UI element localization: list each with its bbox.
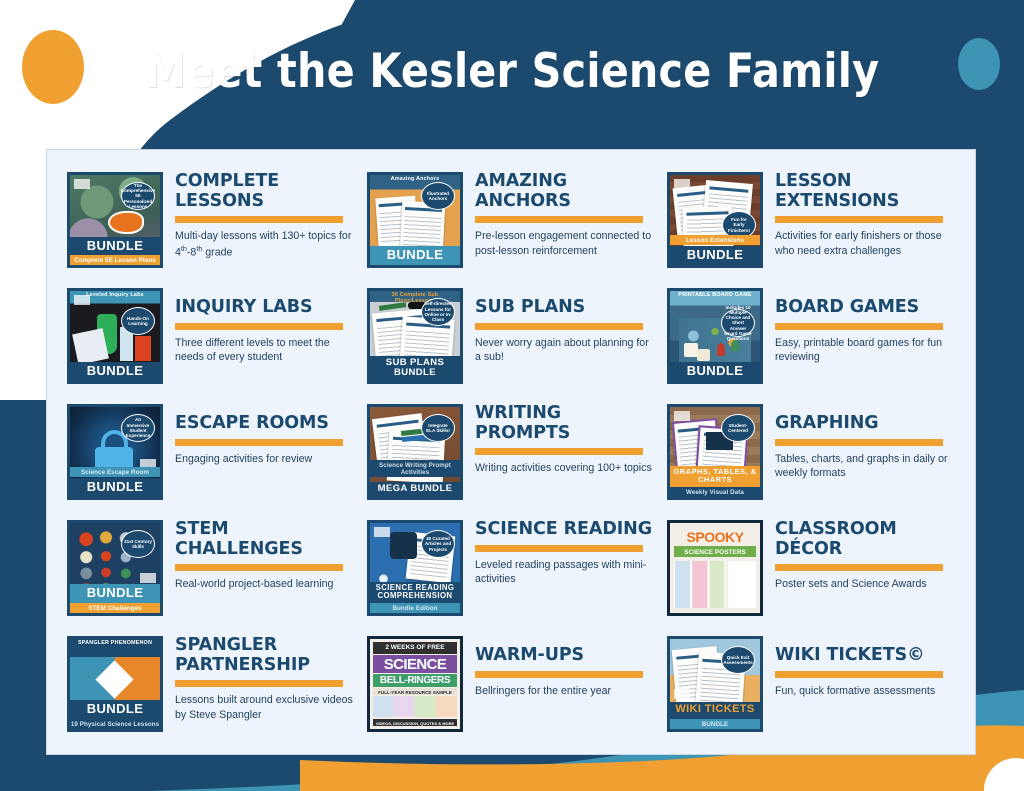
product-description: Easy, printable board games for fun revi… [775,336,957,365]
accent-rule [775,323,943,330]
product-title: GRAPHING [775,414,957,434]
product-text-block: ESCAPE ROOMS Engaging activities for rev… [163,400,357,466]
product-badge-bubble: Student-Centered [721,414,755,442]
product-subbanner: STEM Challenges [70,603,160,613]
product-subbanner: Lesson Extensions [670,235,760,245]
product-description: Never worry again about planning for a s… [475,336,657,365]
accent-rule [475,216,643,223]
product-thumbnail-warm-ups[interactable]: 2 WEEKS OF FREE SCIENCE BELL-RINGERS FUL… [367,636,463,732]
product-banner: GRAPHS, TABLES, & CHARTS [670,466,760,487]
product-description: Tables, charts, and graphs in daily or w… [775,452,957,481]
product-item-escape-rooms[interactable]: An Immersive Student Experience Science … [63,396,363,512]
accent-rule [175,323,343,330]
product-thumbnail-writing-prompts[interactable]: Integrate ELA Skills! Science Writing Pr… [367,404,463,500]
product-badge-bubble: Hands-On Learning [121,307,155,335]
product-thumbnail-science-reading[interactable]: 40 Curated Articles and Projects Bundle … [367,520,463,616]
product-text-block: WARM-UPS Bellringers for the entire year [463,632,657,698]
product-title: WARM-UPS [475,646,657,666]
accent-rule [175,680,343,687]
product-item-complete-lessons[interactable]: The Comprehensive 5E Personalized Lesson… [63,164,363,280]
accent-rule [175,216,343,223]
cover-title-science: SCIENCE [373,655,458,673]
lab-item-shape [135,336,151,361]
accent-rule [475,448,643,455]
dice-shape [697,349,710,362]
product-text-block: BOARD GAMES Easy, printable board games … [763,284,957,365]
product-text-block: COMPLETE LESSONS Multi-day lessons with … [163,168,357,260]
poster-title-text: SPOOKY [674,527,757,547]
product-item-graphing[interactable]: Student-Centered Weekly Visual Data GRAP… [663,396,963,512]
product-description: Poster sets and Science Awards [775,577,957,592]
accent-rule [775,564,943,571]
accent-rule [775,216,943,223]
product-banner: BUNDLE [670,362,760,381]
product-badge-bubble: Integrate ELA Skills! [421,414,455,442]
product-description: Fun, quick formative assessments [775,684,957,699]
product-thumbnail-stem-challenges[interactable]: 21st Century Skills STEM Challenges BUND… [67,520,163,616]
product-title: SCIENCE READING [475,520,657,540]
clownfish-shape [108,211,144,234]
product-thumbnail-classroom-decor[interactable]: SPOOKY SCIENCE POSTERS [667,520,763,616]
cover-thumbnail-strip [373,696,458,718]
product-item-board-games[interactable]: PRINTABLE BOARD GAME Includes 10 Multipl… [663,280,963,396]
accent-rule [775,439,943,446]
game-piece-shape [717,343,725,356]
accent-rule [175,439,343,446]
product-item-spangler-partnership[interactable]: SPANGLER PHENOMENON 19 Physical Science … [63,628,363,744]
product-banner: SUB PLANS BUNDLE [370,356,460,381]
product-thumbnail-escape-rooms[interactable]: An Immersive Student Experience Science … [67,404,163,500]
product-title: ESCAPE ROOMS [175,414,357,434]
product-text-block: WIKI TICKETS© Fun, quick formative asses… [763,632,957,698]
product-subbanner: Complete 5E Lesson Plans [70,255,160,265]
accent-rule [175,564,343,571]
product-text-block: SPANGLER PARTNERSHIP Lessons built aroun… [163,632,357,722]
product-title: BOARD GAMES [775,298,957,318]
product-title: WRITING PROMPTS [475,404,657,443]
cover-title-bellringers: BELL-RINGERS [373,674,458,687]
product-title: LESSON EXTENSIONS [775,172,957,211]
product-item-amazing-anchors[interactable]: Amazing Anchors Illustrated Anchors BUND… [363,164,663,280]
product-title: SUB PLANS [475,298,657,318]
accent-rule [475,323,643,330]
product-text-block: SCIENCE READING Leveled reading passages… [463,516,657,587]
product-description: Pre-lesson engagement connected to post-… [475,229,657,258]
product-banner: BUNDLE [70,237,160,256]
product-description: Bellringers for the entire year [475,684,657,699]
product-item-wiki-tickets[interactable]: Quick Exit Assessments BUNDLE WIKI TICKE… [663,628,963,744]
product-text-block: AMAZING ANCHORS Pre-lesson engagement co… [463,168,657,258]
poster-canvas: Meet the Kesler Science Family The Compr… [0,0,1024,791]
product-top-label: PRINTABLE BOARD GAME [670,291,760,301]
product-item-stem-challenges[interactable]: 21st Century Skills STEM Challenges BUND… [63,512,363,628]
product-thumbnail-inquiry-labs[interactable]: Leveled Inquiry Labs Hands-On Learning B… [67,288,163,384]
product-title: AMAZING ANCHORS [475,172,657,211]
product-banner: BUNDLE [70,584,160,603]
product-description: Leveled reading passages with mini-activ… [475,558,657,587]
product-item-sub-plans[interactable]: 30 Complete Sub Plans/Lessons Self-direc… [363,280,663,396]
product-badge-bubble: 21st Century Skills [121,530,155,558]
product-item-warm-ups[interactable]: 2 WEEKS OF FREE SCIENCE BELL-RINGERS FUL… [363,628,663,744]
product-thumbnail-board-games[interactable]: PRINTABLE BOARD GAME Includes 10 Multipl… [667,288,763,384]
goggles-shape [390,532,417,559]
product-thumbnail-amazing-anchors[interactable]: Amazing Anchors Illustrated Anchors BUND… [367,172,463,268]
product-thumbnail-sub-plans[interactable]: 30 Complete Sub Plans/Lessons Self-direc… [367,288,463,384]
product-description: Multi-day lessons with 130+ topics for 4… [175,229,357,260]
product-subbanner: BUNDLE [670,719,760,729]
accent-rule [475,545,643,552]
product-description: Engaging activities for review [175,452,357,467]
product-subbanner: 19 Physical Science Lessons [70,719,160,729]
product-banner: WIKI TICKETS [670,702,760,719]
product-description: Real-world project-based learning [175,577,357,592]
product-banner: SCIENCE READING COMPREHENSION [370,582,460,603]
product-subbanner: Science Writing Prompt Activities [370,460,460,477]
product-thumbnail-lesson-extensions[interactable]: Fun for Early Finishers! Lesson Extensio… [667,172,763,268]
product-subbanner: Bundle Edition [370,603,460,613]
product-text-block: STEM CHALLENGES Real-world project-based… [163,516,357,592]
cover-top-label: 2 WEEKS OF FREE [373,642,458,655]
kesler-logo-mark [140,573,156,583]
product-badge-bubble: 40 Curated Articles and Projects [421,530,455,558]
product-description: Three different levels to meet the needs… [175,336,357,365]
products-grid: The Comprehensive 5E Personalized Lesson… [63,164,963,744]
dice-shape [684,343,698,357]
product-title: SPANGLER PARTNERSHIP [175,636,357,675]
kesler-logo-mark [674,179,690,189]
product-item-science-reading[interactable]: 40 Curated Articles and Projects Bundle … [363,512,663,628]
product-top-label: SPANGLER PHENOMENON [70,639,160,649]
product-item-writing-prompts[interactable]: Integrate ELA Skills! Science Writing Pr… [363,396,663,512]
product-text-block: CLASSROOM DÉCOR Poster sets and Science … [763,516,957,592]
product-banner: BUNDLE [70,478,160,497]
cover-footer-label: VIDEOS, DISCUSSION, QUOTES & MORE [373,719,458,726]
product-banner: MEGA BUNDLE [370,482,460,497]
product-thumbnail-spangler[interactable]: SPANGLER PHENOMENON 19 Physical Science … [67,636,163,732]
product-title: WIKI TICKETS© [775,646,957,666]
product-item-inquiry-labs[interactable]: Leveled Inquiry Labs Hands-On Learning B… [63,280,363,396]
product-title: COMPLETE LESSONS [175,172,357,211]
product-banner: BUNDLE [70,362,160,381]
page-title: Meet the Kesler Science Family [61,44,962,99]
product-text-block: INQUIRY LABS Three different levels to m… [163,284,357,365]
product-badge-bubble: Self-directed Lessons for Online or In-C… [421,298,455,326]
accent-rule [475,671,643,678]
product-thumbnail-complete-lessons[interactable]: The Comprehensive 5E Personalized Lesson… [67,172,163,268]
poster-grid [674,561,726,608]
product-subbanner: Science Escape Room [70,467,160,477]
product-badge-bubble: Includes 10 Multiple Choice and Short An… [721,309,755,337]
product-top-label: Leveled Inquiry Labs [70,291,160,301]
product-badge-bubble: Illustrated Anchors [421,182,455,210]
product-thumbnail-graphing[interactable]: Student-Centered Weekly Visual Data GRAP… [667,404,763,500]
kesler-logo-mark [374,527,390,537]
product-description: Writing activities covering 100+ topics [475,461,657,476]
product-thumbnail-wiki-tickets[interactable]: Quick Exit Assessments BUNDLE WIKI TICKE… [667,636,763,732]
product-text-block: SUB PLANS Never worry again about planni… [463,284,657,365]
cover-sample-label: FULL-YEAR RESOURCE SAMPLE [373,688,458,695]
product-badge-bubble: Quick Exit Assessments [721,646,755,674]
product-title: STEM CHALLENGES [175,520,357,559]
product-item-classroom-decor[interactable]: SPOOKY SCIENCE POSTERS CLASSROOM DÉCOR P… [663,512,963,628]
product-banner: BUNDLE [670,246,760,265]
kesler-logo-mark [674,689,690,699]
poster-side-stack [728,561,757,608]
product-banner: BUNDLE [70,700,160,719]
product-item-lesson-extensions[interactable]: Fun for Early Finishers! Lesson Extensio… [663,164,963,280]
product-text-block: WRITING PROMPTS Writing activities cover… [463,400,657,476]
product-badge-bubble: An Immersive Student Experience [121,414,155,442]
product-badge-bubble: The Comprehensive 5E Personalized Lesson… [121,182,155,210]
product-subbanner: Weekly Visual Data [670,487,760,497]
products-card: The Comprehensive 5E Personalized Lesson… [46,149,976,755]
product-text-block: LESSON EXTENSIONS Activities for early f… [763,168,957,258]
kesler-logo-mark [74,179,90,189]
product-title: CLASSROOM DÉCOR [775,520,957,559]
poster-subtitle: SCIENCE POSTERS [674,546,757,557]
product-description: Lessons built around exclusive videos by… [175,693,357,722]
product-description: Activities for early finishers or those … [775,229,957,258]
accent-rule [775,671,943,678]
product-title: INQUIRY LABS [175,298,357,318]
product-banner: BUNDLE [370,246,460,265]
kesler-logo-mark [674,411,690,421]
product-text-block: GRAPHING Tables, charts, and graphs in d… [763,400,957,481]
